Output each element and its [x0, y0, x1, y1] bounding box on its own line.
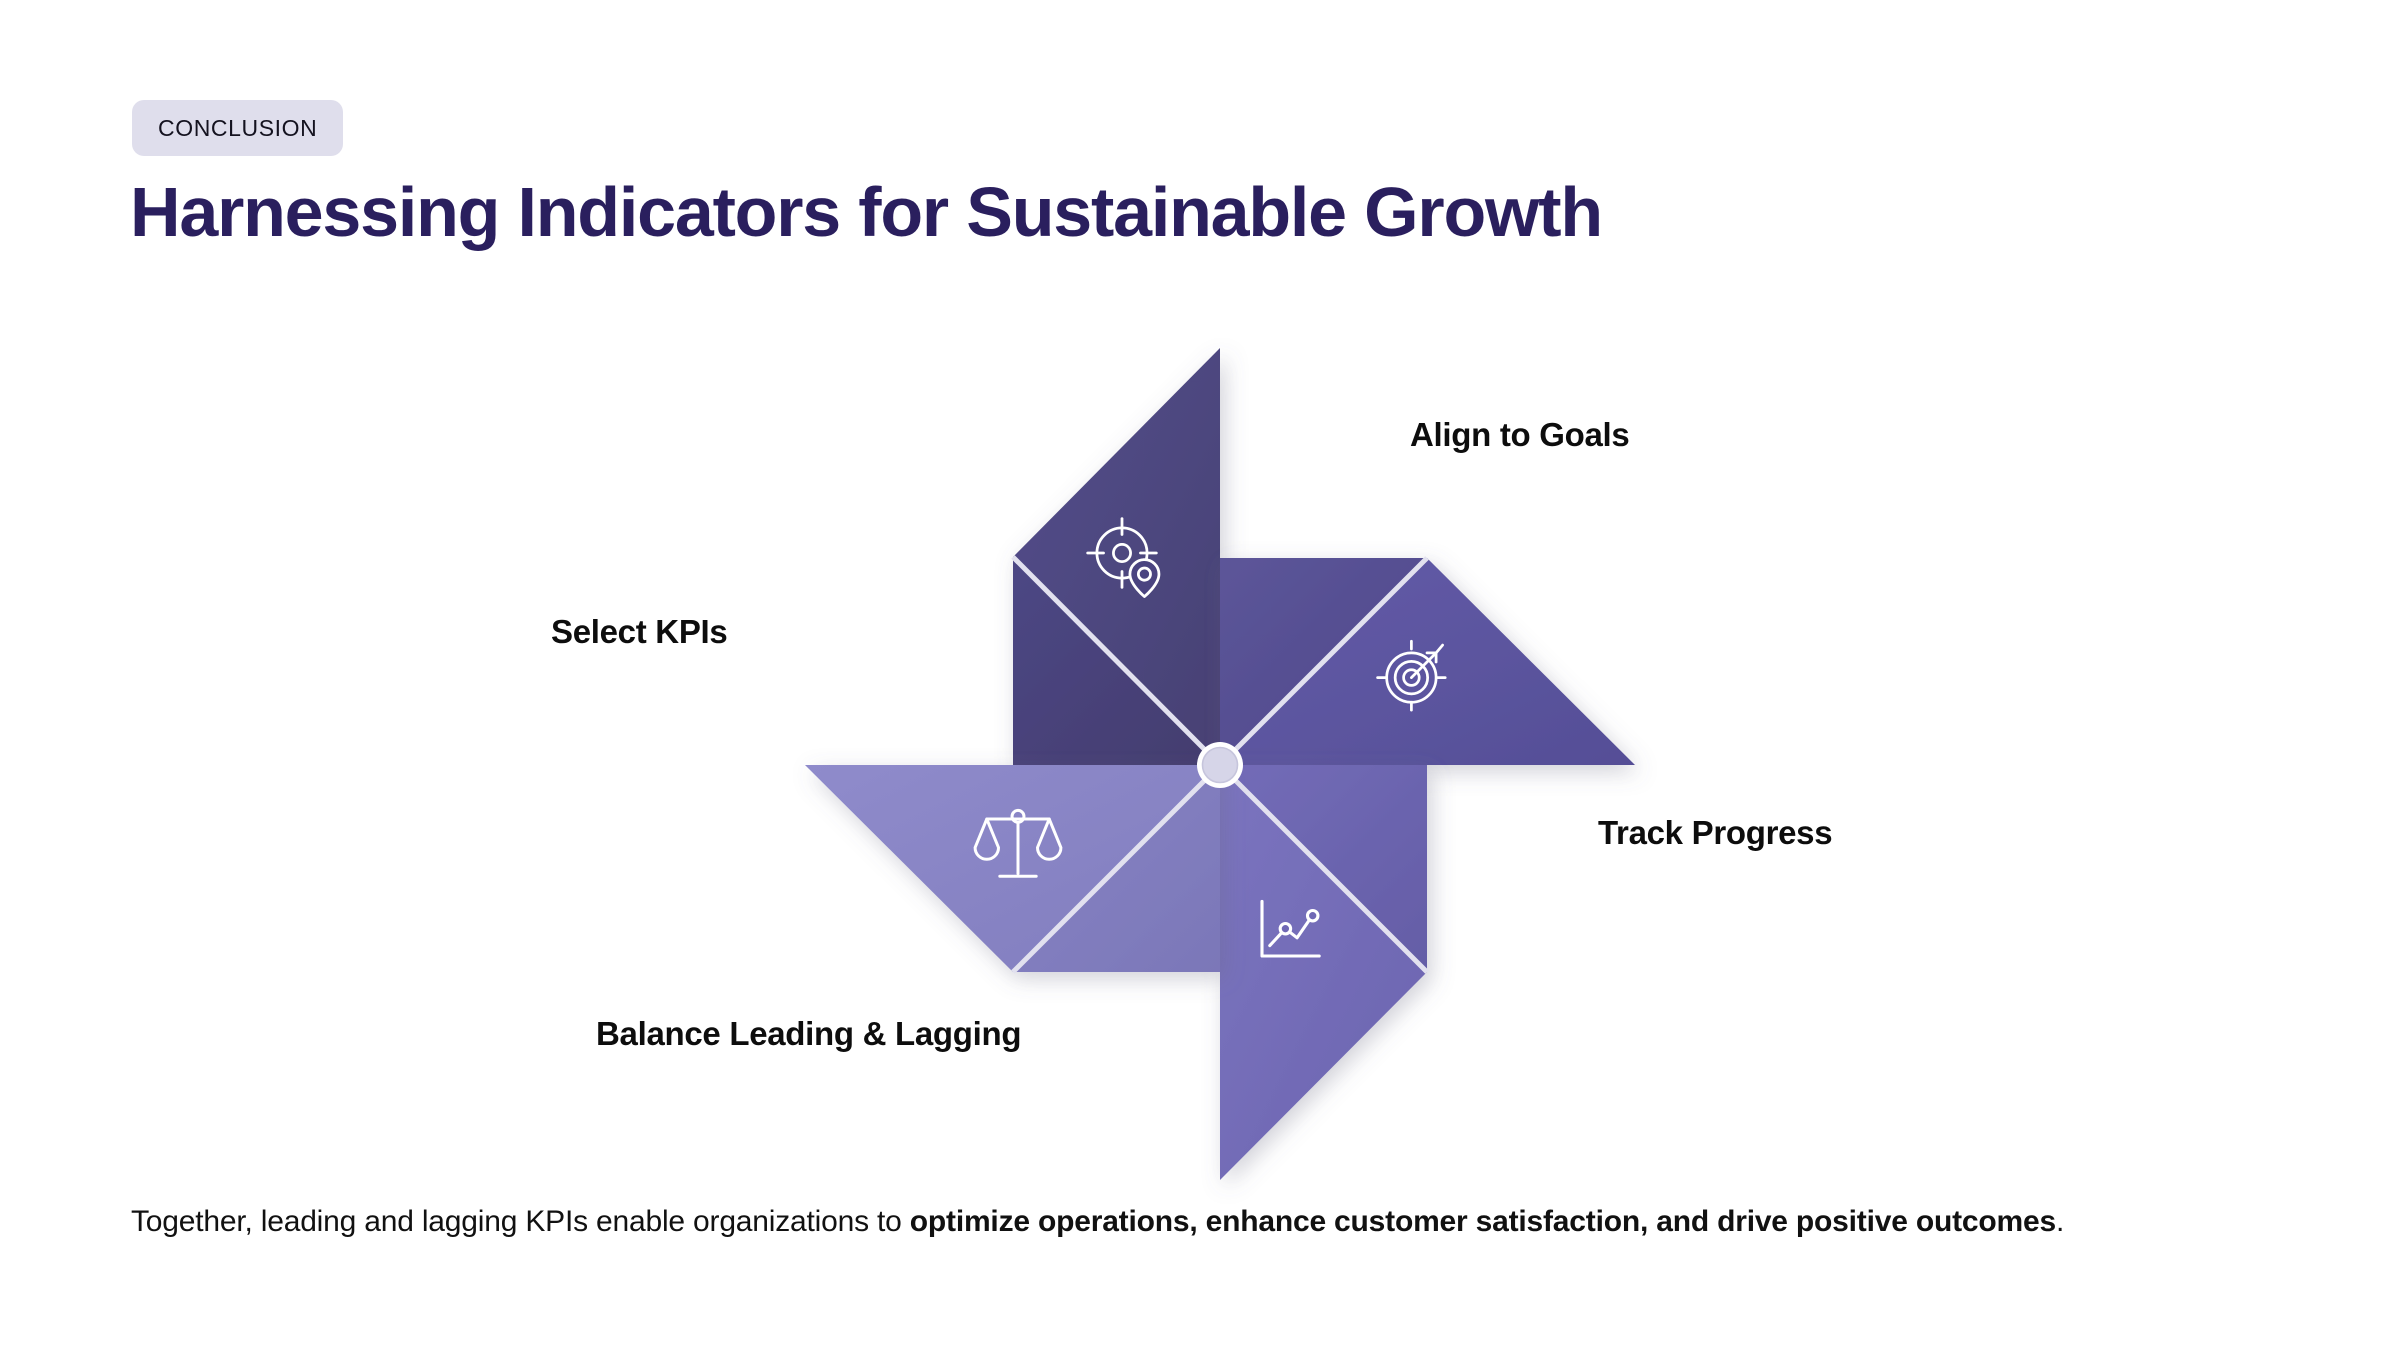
target-arrow-icon	[1378, 641, 1446, 710]
blade-select-kpis[interactable]	[1013, 348, 1220, 765]
blade-label-select-kpis: Select KPIs	[551, 613, 727, 651]
blade-seam	[1013, 557, 1220, 765]
summary-caption: Together, leading and lagging KPIs enabl…	[131, 1205, 2064, 1239]
blade-half-upper	[1220, 765, 1427, 972]
page-title: Harnessing Indicators for Sustainable Gr…	[130, 172, 1602, 252]
caption-tail: .	[2056, 1205, 2064, 1238]
blade-half-upper	[805, 765, 1220, 972]
blade-half-lower	[1013, 557, 1220, 765]
blade-half-upper	[1220, 558, 1427, 765]
blade-seam	[1013, 765, 1220, 972]
balance-scales-icon	[975, 810, 1061, 876]
blade-half-lower	[1220, 558, 1635, 765]
blade-half-lower	[1220, 765, 1427, 1180]
blade-align-to-goals[interactable]	[1220, 558, 1635, 765]
caption-lead: Together, leading and lagging KPIs enabl…	[131, 1205, 910, 1238]
pinwheel-hub	[1197, 742, 1243, 788]
section-badge: CONCLUSION	[132, 100, 343, 156]
target-location-pin-icon	[1088, 519, 1159, 597]
blade-label-align-to-goals: Align to Goals	[1410, 416, 1629, 454]
blade-track-progress[interactable]	[1220, 765, 1427, 1180]
caption-emphasis: optimize operations, enhance customer sa…	[910, 1205, 2056, 1238]
blade-seam	[1220, 765, 1427, 972]
blade-label-track-progress: Track Progress	[1598, 814, 1832, 852]
blade-label-balance-leading-lagging: Balance Leading & Lagging	[596, 1015, 1021, 1053]
blade-balance-leading-lagging[interactable]	[805, 765, 1220, 972]
blade-seam	[1220, 558, 1427, 765]
blade-half-lower	[1013, 765, 1220, 972]
slide-root: CONCLUSION Harnessing Indicators for Sus…	[0, 0, 2400, 1350]
blade-half-upper	[1013, 348, 1220, 765]
line-chart-icon	[1262, 901, 1319, 956]
